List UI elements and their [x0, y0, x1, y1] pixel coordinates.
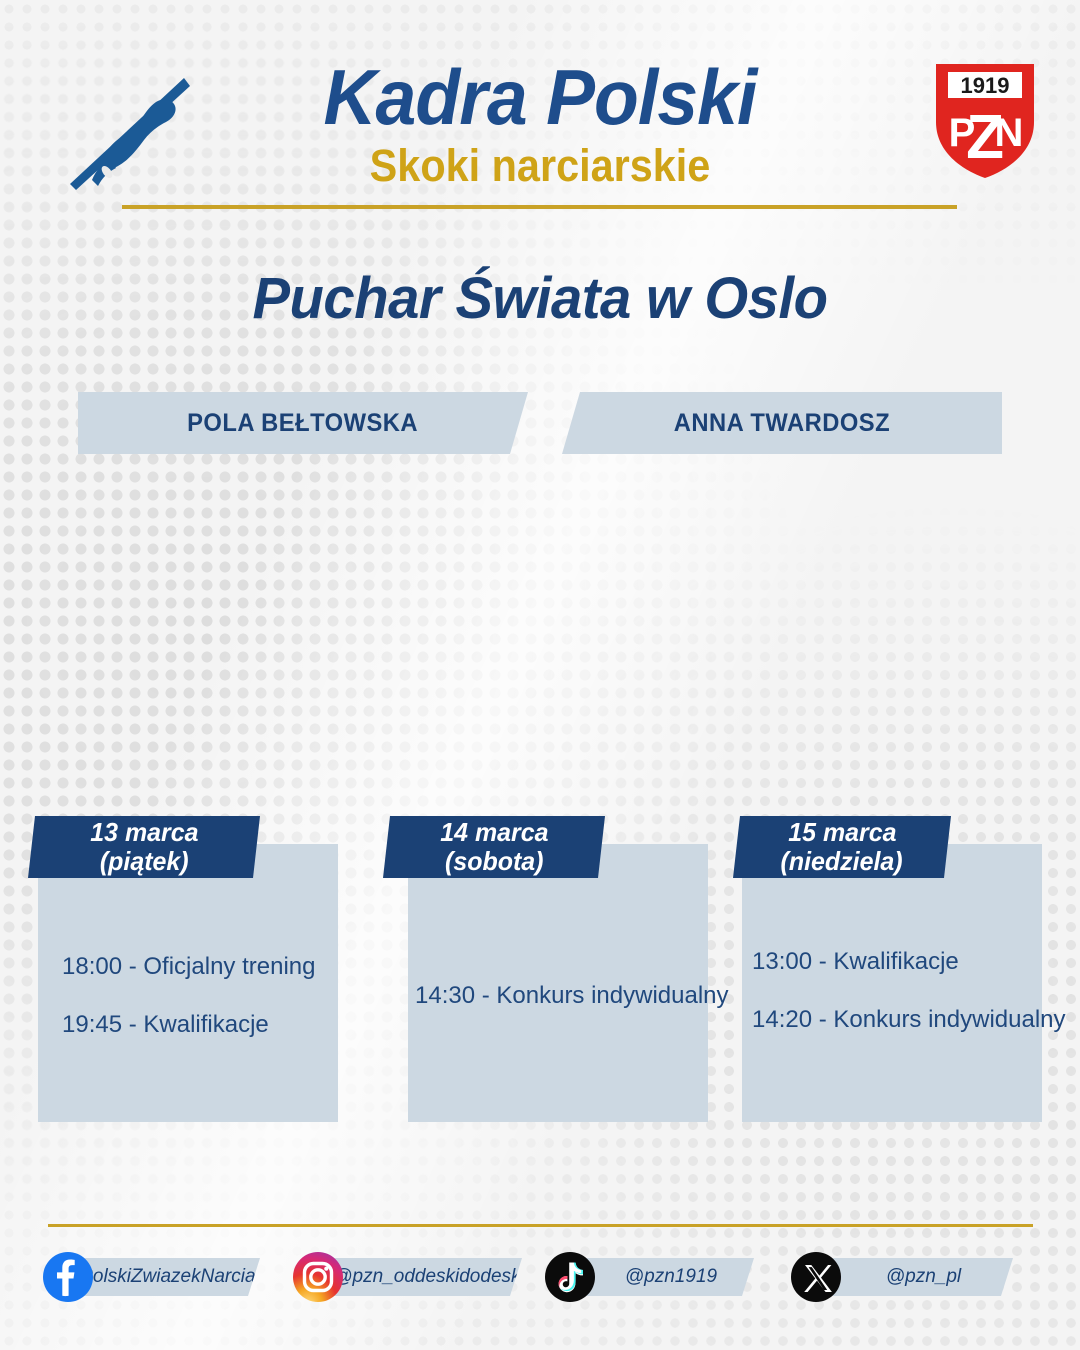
schedule-date: 14 marca: [440, 818, 548, 847]
social-link-tiktok[interactable]: @pzn1919: [544, 1253, 754, 1301]
schedule-event-list: 13:00 - Kwalifikacje 14:20 - Konkurs ind…: [752, 926, 1066, 1056]
header-titles: Kadra Polski Skoki narciarskie: [0, 58, 1080, 189]
facebook-icon: [42, 1251, 94, 1303]
schedule-event: 13:00 - Kwalifikacje: [752, 948, 1066, 976]
schedule-event-list: 14:30 - Konkurs indywidualny: [415, 966, 729, 1026]
schedule-weekday: (niedziela): [781, 847, 903, 876]
schedule-date: 15 marca: [788, 818, 896, 847]
poster-root: Kadra Polski Skoki narciarskie 1919 P Z …: [0, 0, 1080, 1350]
schedule-event: 14:20 - Konkurs indywidualny: [752, 1006, 1066, 1034]
pzn-year: 1919: [961, 73, 1010, 98]
social-link-x[interactable]: @pzn_pl: [790, 1253, 1013, 1301]
athlete-banner-0: POLA BEŁTOWSKA: [78, 392, 528, 454]
header-divider: [122, 205, 957, 209]
pzn-letter-n: N: [995, 111, 1024, 155]
athlete-name: POLA BEŁTOWSKA: [188, 409, 419, 438]
schedule-date: 13 marca: [90, 818, 198, 847]
instagram-icon: [292, 1251, 344, 1303]
page-subtitle: Skoki narciarskie: [43, 142, 1037, 189]
header: Kadra Polski Skoki narciarskie 1919 P Z …: [0, 0, 1080, 225]
schedule-event: 18:00 - Oficjalny trening: [62, 953, 315, 981]
athlete-name: ANNA TWARDOSZ: [674, 409, 890, 438]
page-title: Kadra Polski: [32, 58, 1047, 136]
x-twitter-icon: [790, 1251, 842, 1303]
tiktok-icon: [544, 1251, 596, 1303]
athlete-banner-1: ANNA TWARDOSZ: [562, 392, 1002, 454]
schedule-weekday: (piątek): [100, 847, 189, 876]
social-link-facebook[interactable]: @PolskiZwiazekNarciarski: [42, 1253, 260, 1301]
schedule-card-header: 13 marca (piątek): [28, 816, 260, 878]
schedule-card-header: 15 marca (niedziela): [733, 816, 951, 878]
social-link-instagram[interactable]: @pzn_oddeskidodeski: [292, 1253, 522, 1301]
schedule-card-header: 14 marca (sobota): [383, 816, 605, 878]
pzn-logo: 1919 P Z N: [930, 60, 1040, 180]
schedule-event-list: 18:00 - Oficjalny trening 19:45 - Kwalif…: [62, 936, 315, 1056]
schedule-weekday: (sobota): [445, 847, 543, 876]
footer-divider: [48, 1224, 1033, 1227]
schedule-event: 19:45 - Kwalifikacje: [62, 1011, 315, 1039]
event-title: Puchar Świata w Oslo: [16, 265, 1064, 332]
schedule-event: 14:30 - Konkurs indywidualny: [415, 982, 729, 1010]
